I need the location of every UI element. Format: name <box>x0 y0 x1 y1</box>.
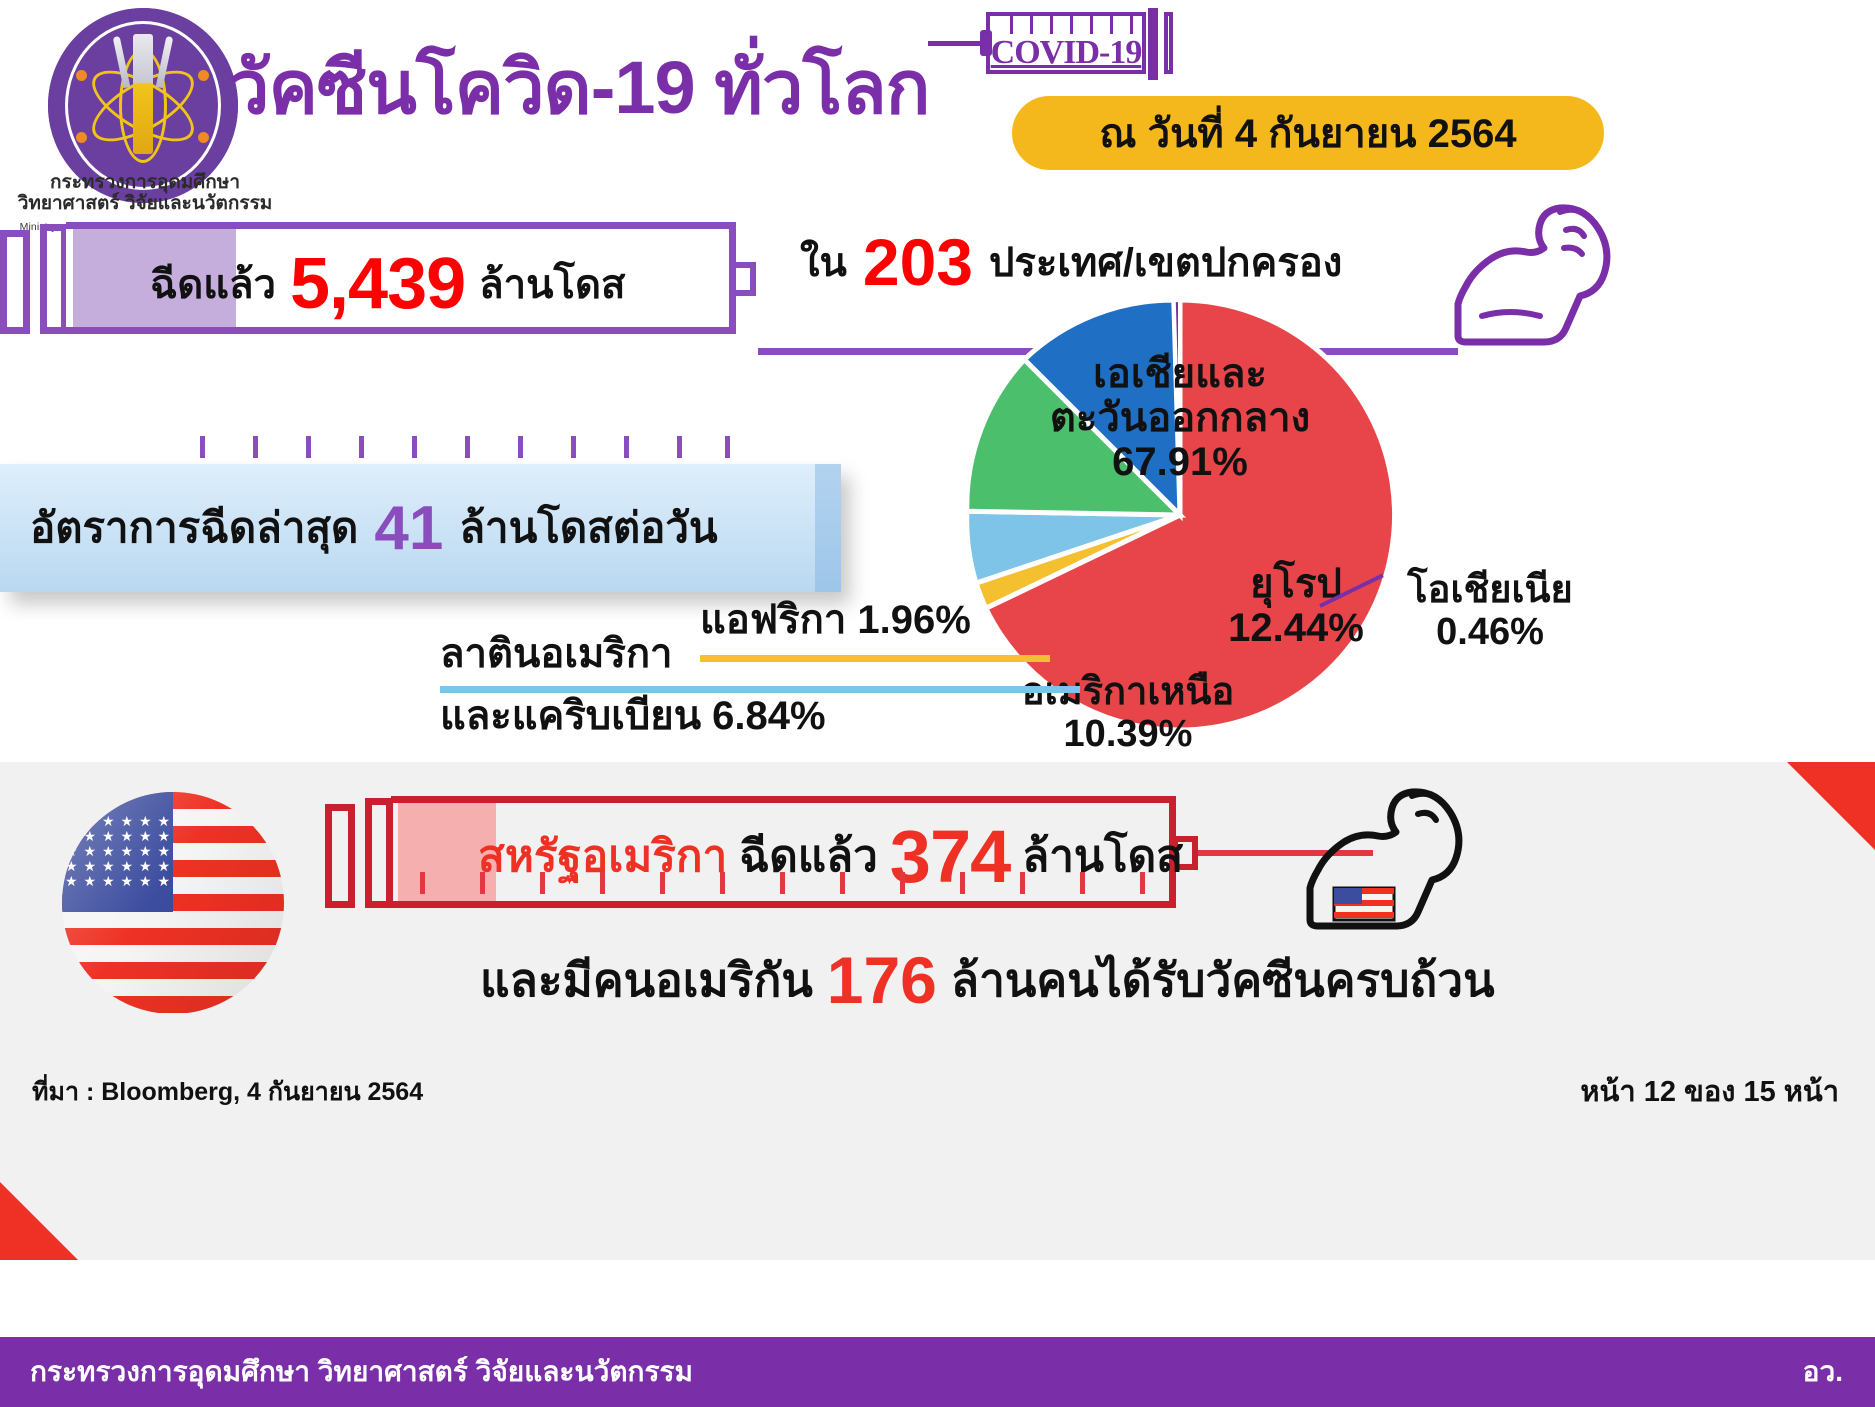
countries-prefix: ใน <box>800 230 847 294</box>
footer-bar: กระทรวงการอุดมศึกษา วิทยาศาสตร์ วิจัยและ… <box>0 1337 1875 1407</box>
pie-label-latam-line2: และแคริบเบียน 6.84% <box>440 694 826 738</box>
countries-suffix: ประเทศ/เขตปกครอง <box>989 230 1342 294</box>
countries-value: 203 <box>863 224 973 300</box>
global-doses-prefix: ฉีดแล้ว <box>150 252 276 316</box>
pie-leader-line-latam <box>440 686 1080 693</box>
usa-people-suffix: ล้านคนได้รับวัคซีนครบถ้วน <box>951 944 1495 1017</box>
covid-badge-label: COVID-19 <box>990 34 1142 72</box>
date-badge: ณ วันที่ 4 กันยายน 2564 <box>1012 96 1604 170</box>
pie-label-latam: ลาตินอเมริกา <box>440 632 673 676</box>
usa-flag-icon: ★★★★★★ ★★★★★★ ★★★★★★ ★★★★★★ ★★★★★★ <box>62 792 284 1014</box>
usa-people-value: 176 <box>827 942 937 1018</box>
pie-label-europe: ยุโรป 12.44% <box>1196 562 1396 650</box>
pie-label-north-america: อเมริกาเหนือ 10.39% <box>988 672 1268 756</box>
source-text: ที่มา : Bloomberg, 4 กันยายน 2564 <box>32 1072 423 1112</box>
flexed-arm-usa-icon <box>1300 780 1470 930</box>
footer-abbrev: อว. <box>1803 1350 1843 1394</box>
rate-suffix: ล้านโดสต่อวัน <box>459 495 717 561</box>
daily-rate-text: อัตราการฉีดล่าสุด 41 ล้านโดสต่อวัน <box>30 486 718 570</box>
usa-people-prefix: และมีคนอเมริกัน <box>480 944 813 1017</box>
covid-syringe-icon: COVID-19 <box>968 8 1186 86</box>
ministry-logo: กระทรวงการอุดมศึกษา วิทยาศาสตร์ วิจัยและ… <box>38 8 248 238</box>
infographic-canvas: กระทรวงการอุดมศึกษา วิทยาศาสตร์ วิจัยและ… <box>0 0 1875 1407</box>
page-number: หน้า 12 ของ 15 หน้า <box>1580 1068 1839 1114</box>
page-title: วัคซีนโควิด-19 ทั่วโลก <box>228 28 929 146</box>
pie-label-oceania: โอเชียเนีย 0.46% <box>1370 570 1610 654</box>
syringe-tick-marks <box>200 436 730 462</box>
rate-prefix: อัตราการฉีดล่าสุด <box>30 495 358 561</box>
global-doses-text: ฉีดแล้ว 5,439 ล้านโดส <box>150 246 730 322</box>
usa-syringe-tick-marks <box>420 872 1180 898</box>
pie-label-africa: แอฟริกา 1.96% <box>700 598 971 642</box>
global-doses-value: 5,439 <box>290 243 465 325</box>
ministry-name-thai: กระทรวงการอุดมศึกษา วิทยาศาสตร์ วิจัยและ… <box>14 172 276 215</box>
countries-text: ใน 203 ประเทศ/เขตปกครอง <box>800 222 1342 302</box>
corner-triangle-bottomleft <box>0 1182 78 1260</box>
global-doses-unit: ล้านโดส <box>479 252 625 316</box>
pie-label-asia: เอเชียและ ตะวันออกกลาง 67.91% <box>1000 352 1360 484</box>
rate-value: 41 <box>374 493 443 564</box>
corner-triangle-topright <box>1787 762 1875 850</box>
footer-ministry-name: กระทรวงการอุดมศึกษา วิทยาศาสตร์ วิจัยและ… <box>30 1350 693 1394</box>
date-badge-label: ณ วันที่ 4 กันยายน 2564 <box>1099 101 1516 165</box>
flexed-arm-icon <box>1448 196 1618 346</box>
usa-people-text: และมีคนอเมริกัน 176 ล้านคนได้รับวัคซีนคร… <box>480 940 1495 1020</box>
pie-leader-line-africa <box>700 655 1050 662</box>
